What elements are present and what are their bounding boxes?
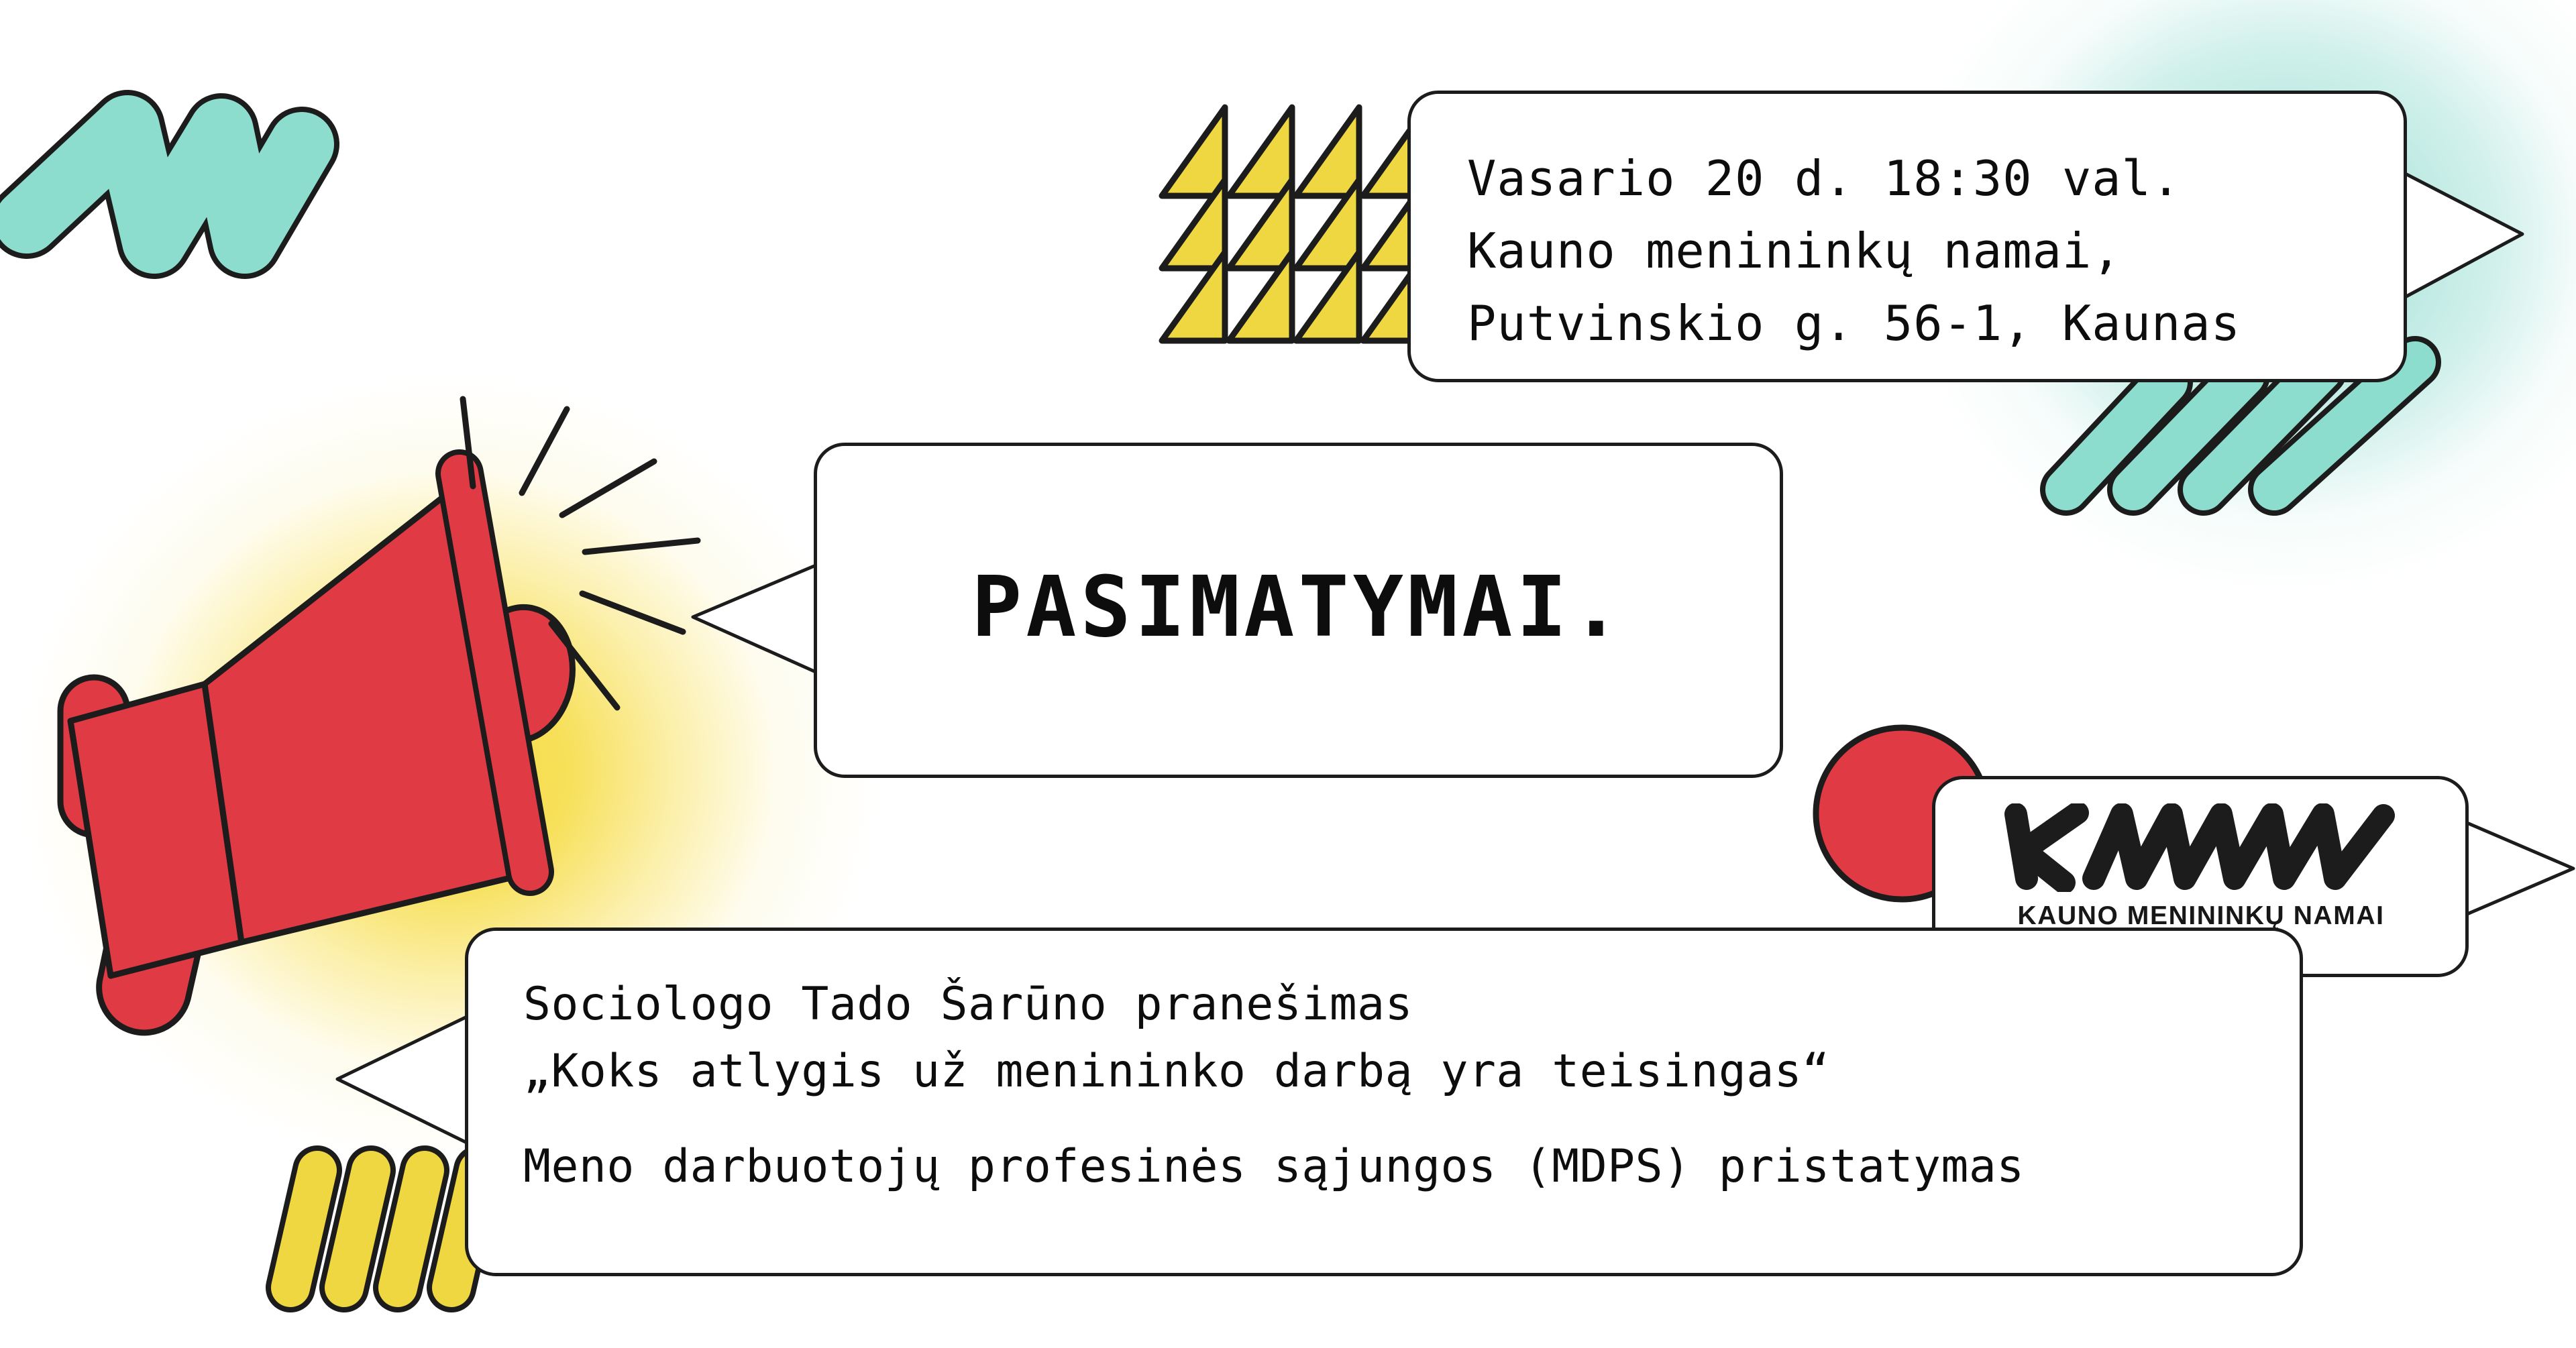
datetime-text: Vasario 20 d. 18:30 val. Kauno menininkų… [1467,142,2241,359]
logo-bubble-tail [2459,820,2573,917]
datetime-line-2: Kauno menininkų namai, [1467,223,2122,279]
yellow-triangle-grid-icon [1162,107,1426,341]
event-poster: Vasario 20 d. 18:30 val. Kauno menininkų… [0,0,2576,1348]
kmn-zigzag-logo-icon [2000,803,2402,892]
title-bubble-tail [693,565,816,672]
datetime-line-3: Putvinskio g. 56-1, Kaunas [1467,295,2241,351]
kmn-wordmark: KAUNO MENININKŲ NAMAI [2000,901,2402,931]
page-title: PASIMATYMAI. [817,559,1780,656]
event-datetime-bubble: Vasario 20 d. 18:30 val. Kauno menininkų… [1407,91,2407,382]
event-details-bubble: Sociologo Tado Šarūno pranešimas „Koks a… [465,928,2303,1276]
details-text: Sociologo Tado Šarūno pranešimas „Koks a… [523,971,2025,1200]
kmn-logo[interactable]: KAUNO MENININKŲ NAMAI [2000,803,2402,931]
details-spacer [523,1105,2025,1133]
datetime-bubble-tail [2398,170,2522,301]
teal-zigzag-icon [27,127,302,241]
details-line-3: Meno darbuotojų profesinės sąjungos (MDP… [523,1140,2025,1193]
yellow-vertical-strokes-icon [290,1170,478,1288]
details-bubble-tail [337,1017,467,1143]
datetime-line-1: Vasario 20 d. 18:30 val. [1467,150,2181,207]
details-line-2: „Koks atlygis už menininko darbą yra tei… [523,1045,1830,1098]
details-line-1: Sociologo Tado Šarūno pranešimas [523,978,1413,1031]
event-title-bubble: PASIMATYMAI. [814,443,1783,778]
